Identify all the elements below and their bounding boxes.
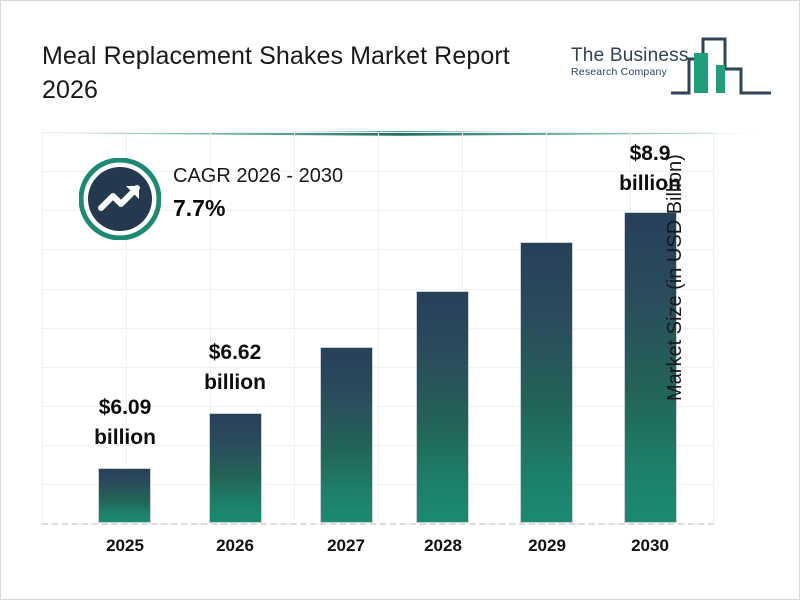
horizontal-gridline [42, 249, 714, 250]
bar-2027[interactable] [320, 347, 373, 523]
y-axis-title: Market Size (in USD Billion) [664, 81, 687, 401]
x-axis-label-2025: 2025 [64, 535, 186, 557]
trending-up-arrow-icon [79, 158, 161, 240]
bar-2025[interactable] [98, 468, 151, 523]
bar-2026[interactable] [209, 413, 262, 523]
bar-2028[interactable] [416, 291, 469, 523]
horizontal-gridline [42, 367, 714, 368]
axis-baseline [42, 523, 714, 525]
x-axis-label-2026: 2026 [174, 535, 296, 557]
page-title: Meal Replacement Shakes Market Report 20… [42, 39, 562, 107]
value-label-2026: $6.62 billion [174, 338, 296, 398]
value-label-2030-amount: $8.9 [589, 139, 711, 169]
value-label-2025-unit: billion [64, 423, 186, 453]
cagr-period-label: CAGR 2026 - 2030 [173, 161, 343, 191]
value-label-2025: $6.09 billion [64, 393, 186, 453]
horizontal-gridline [42, 328, 714, 329]
bar-2029[interactable] [520, 242, 573, 523]
x-axis-label-2030: 2030 [589, 535, 711, 557]
value-label-2026-unit: billion [174, 368, 296, 398]
horizontal-gridline [42, 289, 714, 290]
value-label-2030-unit: billion [589, 169, 711, 199]
value-label-2030: $8.9 billion [589, 139, 711, 199]
market-report-chart-card: Meal Replacement Shakes Market Report 20… [0, 0, 800, 600]
header-divider [35, 123, 769, 128]
value-label-2026-amount: $6.62 [174, 338, 296, 368]
cagr-value: 7.7% [173, 191, 343, 225]
cagr-badge: CAGR 2026 - 2030 7.7% [79, 158, 399, 244]
cagr-text-block: CAGR 2026 - 2030 7.7% [173, 161, 343, 225]
value-label-2025-amount: $6.09 [64, 393, 186, 423]
horizontal-gridline [42, 132, 714, 133]
